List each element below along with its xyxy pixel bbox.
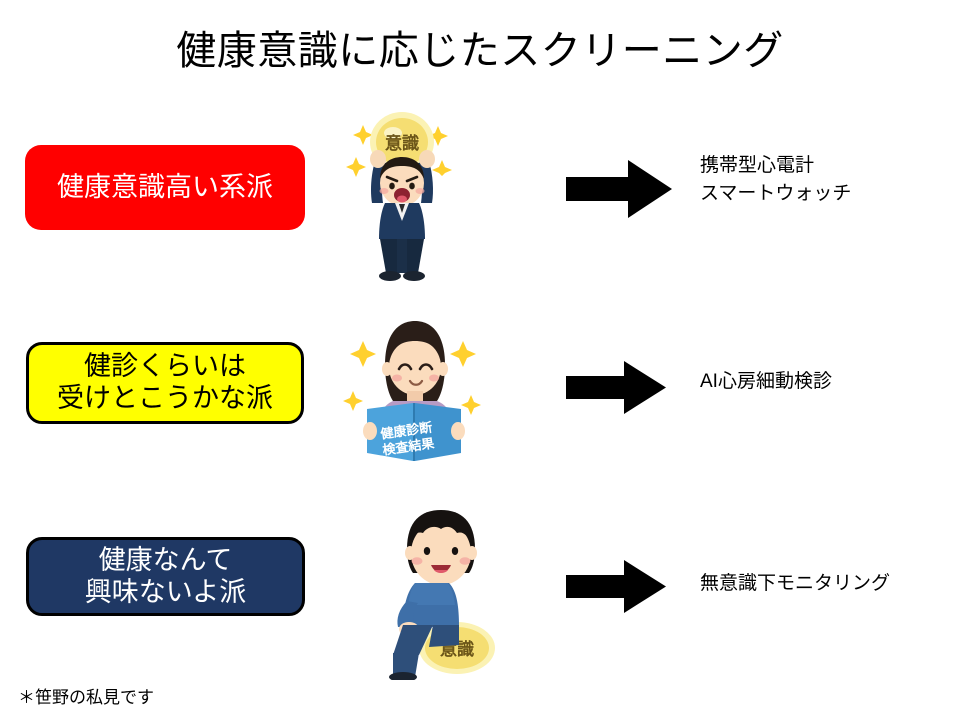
man-sitting-on-awareness-ball-illustration: 意識 [385,505,505,680]
outcome-line: 無意識下モニタリング [700,570,890,598]
slide-canvas: 健康意識に応じたスクリーニング 健康意識高い系派 意識 [0,0,960,720]
category-label-line: 興味ないよ派 [85,577,246,609]
right-arrow-icon-2 [566,361,666,414]
category-label-line: 健康なんて [85,545,246,577]
category-label-line: 受けとこうかな派 [57,383,273,415]
outcome-line: 携帯型心電計 [700,152,851,180]
outcome-label-2: AI心房細動検診 [700,368,832,396]
category-box-high-awareness[interactable]: 健康意識高い系派 [25,145,305,230]
outcome-label-1: 携帯型心電計 スマートウォッチ [700,152,851,207]
category-label-line: 健康意識高い系派 [57,172,273,204]
page-title: 健康意識に応じたスクリーニング [0,18,960,76]
category-label-line: 健診くらいは [57,351,273,383]
right-arrow-icon-3 [566,560,666,613]
woman-reading-checkup-results-illustration: 健康診断 検査結果 [343,313,483,468]
person-lifting-awareness-ball-illustration: 意識 [345,103,465,283]
category-box-no-interest[interactable]: 健康なんて 興味ないよ派 [26,537,305,616]
category-label: 健康なんて 興味ないよ派 [85,545,246,609]
svg-text:意識: 意識 [385,133,419,154]
category-label: 健康意識高い系派 [57,172,273,204]
category-label: 健診くらいは 受けとこうかな派 [57,351,273,415]
outcome-label-3: 無意識下モニタリング [700,570,890,598]
right-arrow-icon-1 [566,160,672,218]
outcome-line: AI心房細動検診 [700,368,832,396]
footnote: ＊笹野の私見です [18,683,154,708]
category-box-checkup-only[interactable]: 健診くらいは 受けとこうかな派 [26,342,304,424]
outcome-line: スマートウォッチ [700,180,851,208]
